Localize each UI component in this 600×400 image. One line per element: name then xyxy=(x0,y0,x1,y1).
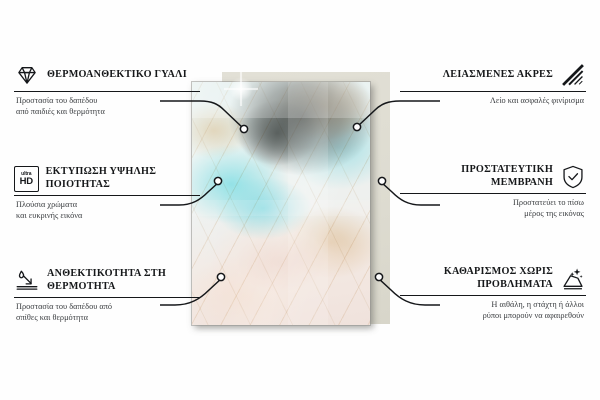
feature-description: Η αιθάλη, η στάχτη ή άλλοι ρύποι μπορούν… xyxy=(400,300,586,322)
feature-description: Προστασία του δαπέδου από σπίθες και θερ… xyxy=(14,302,200,324)
feature-easy-cleaning: ΚΑΘΑΡΙΣΜΟΣ ΧΩΡΙΣ ΠΡΟΒΛΗΜΑΤΑ Η αιθάλη, η … xyxy=(400,266,586,322)
feature-divider xyxy=(14,195,200,196)
feature-title: ΑΝΘΕΚΤΙΚΟΤΗΤΑ ΣΤΗ ΘΕΡΜΟΤΗΤΑ xyxy=(47,268,200,293)
heat-resistance-icon xyxy=(14,268,40,294)
glass-sheen xyxy=(192,82,370,325)
easy-clean-sparkle-icon xyxy=(560,266,586,292)
feature-description: Πλούσια χρώματα και ευκρινής εικόνα xyxy=(14,200,200,222)
feature-title: ΚΑΘΑΡΙΣΜΟΣ ΧΩΡΙΣ ΠΡΟΒΛΗΜΑΤΑ xyxy=(400,266,553,291)
ultra-hd-icon: ultra HD xyxy=(14,166,39,192)
feature-divider xyxy=(14,297,200,298)
feature-description: Λείο και ασφαλές φινίρισμα xyxy=(400,96,586,107)
diamond-icon xyxy=(14,62,40,88)
feature-desc-line-1: Πλούσια χρώματα xyxy=(16,200,200,211)
feature-desc-line-2: ρύποι μπορούν να αφαιρεθούν xyxy=(400,311,584,322)
feature-header: ΚΑΘΑΡΙΣΜΟΣ ΧΩΡΙΣ ΠΡΟΒΛΗΜΑΤΑ xyxy=(400,266,586,292)
feature-header: ΘΕΡΜΟΑΝΘΕΚΤΙΚΟ ΓΥΑΛΙ xyxy=(14,62,200,88)
ultra-hd-icon-bottom-label: HD xyxy=(20,177,33,187)
feature-header: ΠΡΟΣΤΑΤΕΥΤΙΚΗ ΜΕΜΒΡΑΝΗ xyxy=(400,164,586,190)
feature-high-quality-print: ultra HD ΕΚΤΥΠΩΣΗ ΥΨΗΛΗΣ ΠΟΙΟΤΗΤΑΣ Πλούσ… xyxy=(14,166,200,222)
feature-desc-line-2: και ευκρινής εικόνα xyxy=(16,211,200,222)
feature-divider xyxy=(400,91,586,92)
feature-desc-line-1: Προστασία του δαπέδου από xyxy=(16,302,200,313)
feature-desc-line-1: Λείο και ασφαλές φινίρισμα xyxy=(400,96,584,107)
feature-title: ΘΕΡΜΟΑΝΘΕΚΤΙΚΟ ΓΥΑΛΙ xyxy=(47,69,187,82)
feature-description: Προστασία του δαπέδου από παιδιές και θε… xyxy=(14,96,200,118)
feature-desc-line-2: μέρος της εικόνας xyxy=(400,209,584,220)
feature-desc-line-1: Η αιθάλη, η στάχτη ή άλλοι xyxy=(400,300,584,311)
feature-desc-line-2: από παιδιές και θερμότητα xyxy=(16,107,200,118)
glass-highlight-sparkle xyxy=(224,72,258,106)
feature-title: ΕΚΤΥΠΩΣΗ ΥΨΗΛΗΣ ΠΟΙΟΤΗΤΑΣ xyxy=(46,166,200,191)
feature-divider xyxy=(400,295,586,296)
feature-desc-line-1: Προστατεύει το πίσω xyxy=(400,198,584,209)
feature-divider xyxy=(400,193,586,194)
glass-splashback-panel xyxy=(192,82,370,325)
feature-title: ΠΡΟΣΤΑΤΕΥΤΙΚΗ ΜΕΜΒΡΑΝΗ xyxy=(400,164,553,189)
feature-header: ΑΝΘΕΚΤΙΚΟΤΗΤΑ ΣΤΗ ΘΕΡΜΟΤΗΤΑ xyxy=(14,268,200,294)
shield-check-icon xyxy=(560,164,586,190)
feature-heatproof-glass: ΘΕΡΜΟΑΝΘΕΚΤΙΚΟ ΓΥΑΛΙ Προστασία του δαπέδ… xyxy=(14,62,200,118)
feature-smoothed-edges: ΛΕΙΑΣΜΕΝΕΣ ΑΚΡΕΣ Λείο και ασφαλές φινίρι… xyxy=(400,62,586,107)
feature-header: ultra HD ΕΚΤΥΠΩΣΗ ΥΨΗΛΗΣ ΠΟΙΟΤΗΤΑΣ xyxy=(14,166,200,192)
infographic-canvas: ΘΕΡΜΟΑΝΘΕΚΤΙΚΟ ΓΥΑΛΙ Προστασία του δαπέδ… xyxy=(0,0,600,400)
feature-title: ΛΕΙΑΣΜΕΝΕΣ ΑΚΡΕΣ xyxy=(443,69,553,82)
feature-heat-resistance: ΑΝΘΕΚΤΙΚΟΤΗΤΑ ΣΤΗ ΘΕΡΜΟΤΗΤΑ Προστασία το… xyxy=(14,268,200,324)
feature-header: ΛΕΙΑΣΜΕΝΕΣ ΑΚΡΕΣ xyxy=(400,62,586,88)
smoothed-edges-icon xyxy=(560,62,586,88)
feature-protective-membrane: ΠΡΟΣΤΑΤΕΥΤΙΚΗ ΜΕΜΒΡΑΝΗ Προστατεύει το πί… xyxy=(400,164,586,220)
feature-desc-line-1: Προστασία του δαπέδου xyxy=(16,96,200,107)
feature-description: Προστατεύει το πίσω μέρος της εικόνας xyxy=(400,198,586,220)
feature-divider xyxy=(14,91,200,92)
feature-desc-line-2: σπίθες και θερμότητα xyxy=(16,313,200,324)
